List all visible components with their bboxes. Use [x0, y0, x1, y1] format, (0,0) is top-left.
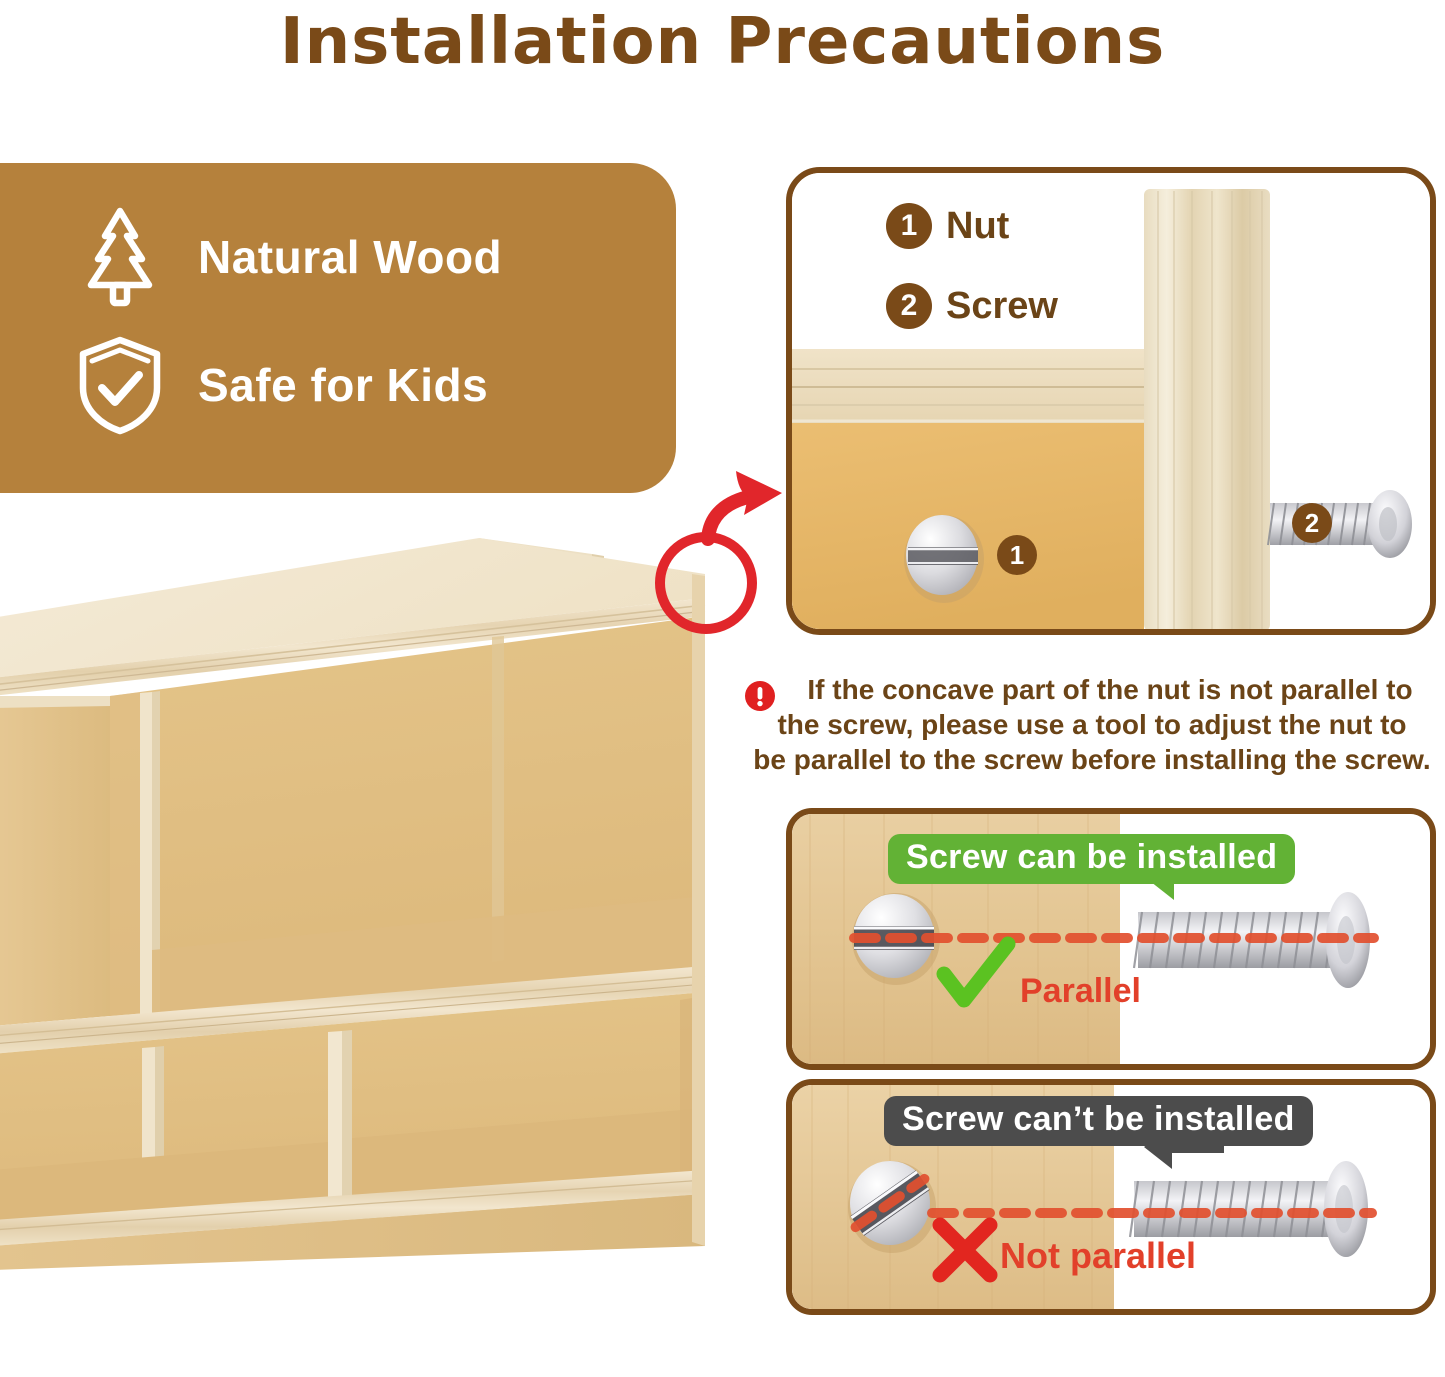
feature-row-safe-for-kids: Safe for Kids	[72, 333, 488, 437]
pine-tree-icon	[72, 205, 168, 309]
not-parallel-label: Not parallel	[1000, 1235, 1196, 1277]
cabinet-product-photo	[0, 530, 722, 1270]
page-title: Installation Precautions	[0, 2, 1445, 82]
parallel-label: Parallel	[1020, 972, 1141, 1011]
status-badge-can-install: Screw can be installed	[888, 834, 1295, 884]
legend-row-screw: 2 Screw	[886, 283, 1058, 329]
legend-number: 2	[886, 283, 932, 329]
detail-panel-nut-screw: 1 2 1 Nut 2 Screw	[786, 167, 1436, 635]
warning-line: the screw, please use a tool to adjust t…	[742, 707, 1442, 742]
cabinet-illustration	[0, 530, 722, 1270]
feature-label: Safe for Kids	[198, 358, 488, 412]
legend-row-nut: 1 Nut	[886, 203, 1009, 249]
feature-badge-panel: Natural Wood Safe for Kids	[0, 163, 676, 493]
warning-note: If the concave part of the nut is not pa…	[742, 672, 1442, 777]
shield-check-icon	[72, 333, 168, 437]
exclamation-circle-icon	[744, 680, 776, 712]
legend-label: Nut	[946, 205, 1009, 248]
warning-line: If the concave part of the nut is not pa…	[742, 672, 1442, 707]
callout-badge-screw: 2	[1292, 503, 1332, 543]
comparison-panel-parallel: Screw can be installed Parallel	[786, 808, 1436, 1070]
callout-badge-nut: 1	[997, 535, 1037, 575]
legend-number: 1	[886, 203, 932, 249]
status-badge-cannot-install: Screw can’t be installed	[884, 1096, 1313, 1146]
feature-label: Natural Wood	[198, 230, 502, 284]
warning-line: be parallel to the screw before installi…	[742, 742, 1442, 777]
feature-row-natural-wood: Natural Wood	[72, 205, 502, 309]
legend-label: Screw	[946, 285, 1058, 328]
comparison-panel-not-parallel: Screw can’t be installed Not parallel	[786, 1079, 1436, 1315]
